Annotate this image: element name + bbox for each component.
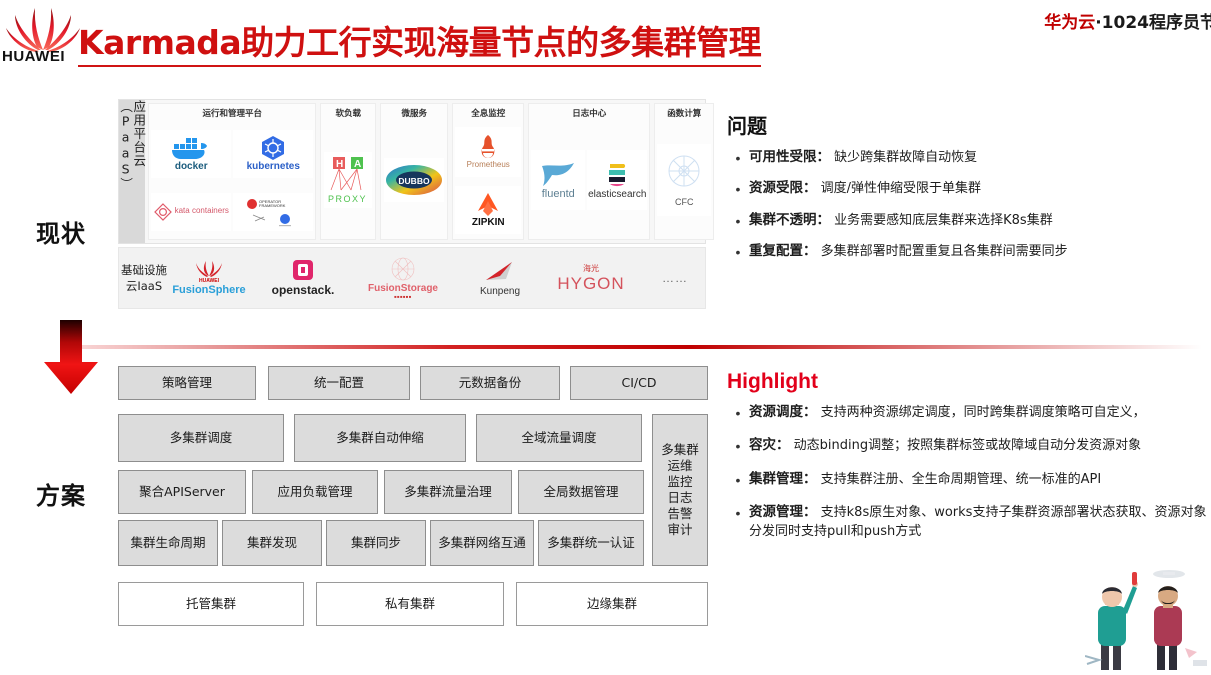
problem-term: 重复配置： [749, 243, 817, 259]
paas-column-title: 日志中心 [529, 104, 649, 121]
paas-side-label: 应用平台云（PaaS） [119, 100, 145, 243]
hygon-logo: 海光 HYGON [551, 263, 631, 294]
paas-platform-diagram: 应用平台云（PaaS） 运行和管理平台 [118, 99, 706, 244]
paas-column-title: 函数计算 [655, 104, 713, 121]
arch-box-global-traffic-scheduling[interactable]: 全域流量调度 [476, 414, 642, 462]
highlight-term: 资源管理： [749, 504, 817, 520]
list-item: • 重复配置： 多集群部署时配置重复且各集群间需要同步 [727, 242, 1207, 262]
problem-text: 资源受限： 调度/弹性伸缩受限于单集群 [749, 179, 1207, 199]
fluentd-label: fluentd [542, 188, 575, 200]
problem-text: 可用性受限： 缺少跨集群故障自动恢复 [749, 148, 1207, 168]
fusionstorage-sub: ■■■■■■ [394, 294, 412, 299]
list-item: • 可用性受限： 缺少跨集群故障自动恢复 [727, 148, 1207, 168]
elasticsearch-label: elasticsearch [588, 189, 646, 200]
highlight-desc: 支持k8s原生对象、works支持子集群资源部署状态获取、资源对象分发同时支持p… [749, 505, 1206, 539]
paas-side-label-text: 应用平台云（PaaS） [119, 100, 145, 243]
highlight-heading: Highlight [727, 370, 1207, 394]
kubernetes-label: kubernetes [247, 161, 300, 172]
event-badge-name: 1024程序员节 [1102, 13, 1211, 33]
arch-box-metadata-backup[interactable]: 元数据备份 [420, 366, 560, 400]
highlight-desc: 支持集群注册、全生命周期管理、统一标准的API [821, 472, 1102, 487]
arch-sidebar-line: 告警 [667, 506, 692, 522]
highlight-section: Highlight • 资源调度： 支持两种资源绑定调度，同时跨集群调度策略可自… [727, 370, 1207, 555]
kunpeng-label: Kunpeng [480, 286, 520, 297]
elasticsearch-logo: elasticsearch [587, 150, 647, 210]
list-item: • 集群不透明： 业务需要感知底层集群来选择K8s集群 [727, 211, 1207, 231]
slide-root: HUAWEI Karmada助力工行实现海量节点的多集群管理 华为云·1024程… [0, 0, 1211, 675]
problem-term: 可用性受限： [749, 149, 830, 165]
bullet-icon: • [727, 503, 749, 542]
down-arrow-icon [40, 318, 102, 396]
bullet-icon: • [727, 179, 749, 199]
cfc-logo: CFC [657, 144, 711, 216]
highlight-text: 资源管理： 支持k8s原生对象、works支持子集群资源部署状态获取、资源对象分… [749, 503, 1207, 542]
paas-columns: 运行和管理平台 docker [145, 100, 717, 243]
arch-box-edge-cluster[interactable]: 边缘集群 [516, 582, 708, 626]
paas-column-body: fluentd elasticsearch [529, 121, 649, 239]
arch-box-multicluster-traffic-governance[interactable]: 多集群流量治理 [384, 470, 512, 514]
bullet-icon: • [727, 242, 749, 262]
paas-column-logcenter: 日志中心 fluentd [528, 103, 650, 240]
arch-box-multicluster-autoscale[interactable]: 多集群自动伸缩 [294, 414, 466, 462]
list-item: • 集群管理： 支持集群注册、全生命周期管理、统一标准的API [727, 470, 1207, 490]
kata-containers-label: kata containers [175, 207, 229, 216]
paas-column-body: docker kubernetes [149, 121, 315, 239]
fusionsphere-label: FusionSphere [172, 284, 245, 296]
highlight-term: 集群管理： [749, 471, 817, 487]
highlight-text: 集群管理： 支持集群注册、全生命周期管理、统一标准的API [749, 470, 1207, 490]
huawei-wordmark: HUAWEI [2, 48, 65, 65]
problem-text: 重复配置： 多集群部署时配置重复且各集群间需要同步 [749, 242, 1207, 262]
zipkin-logo: ZIPKIN [455, 186, 521, 234]
arch-box-unified-config[interactable]: 统一配置 [268, 366, 410, 400]
bullet-icon: • [727, 436, 749, 456]
paas-column-title: 软负载 [321, 104, 375, 121]
list-item: • 容灾： 动态binding调整；按照集群标签或故障域自动分发资源对象 [727, 436, 1207, 456]
list-item: • 资源受限： 调度/弹性伸缩受限于单集群 [727, 179, 1207, 199]
openstack-logo: openstack. [263, 259, 343, 297]
arch-box-cicd[interactable]: CI/CD [570, 366, 708, 400]
paas-column-loadbalance: 软负载 H A PROXY [320, 103, 376, 240]
arch-box-managed-cluster[interactable]: 托管集群 [118, 582, 304, 626]
problem-desc: 调度/弹性伸缩受限于单集群 [821, 181, 981, 196]
problem-term: 资源受限： [749, 180, 817, 196]
paas-column-body: CFC [655, 121, 713, 239]
highlight-term: 资源调度： [749, 404, 817, 420]
arch-sidebar-line: 多集群 [661, 442, 699, 458]
problem-term: 集群不透明： [749, 212, 830, 228]
iaas-label: 基础设施云IaaS [119, 262, 169, 294]
arch-sidebar-line: 日志 [667, 490, 692, 506]
event-badge-brand: 华为云 [1044, 13, 1095, 33]
zipkin-label: ZIPKIN [472, 217, 505, 228]
arch-sidebar-line: 运维 [667, 458, 692, 474]
paas-column-body: Prometheus ZIPKIN [453, 121, 523, 239]
svg-text:H: H [336, 159, 343, 170]
problems-section: 问题 • 可用性受限： 缺少跨集群故障自动恢复 • 资源受限： 调度/弹性伸缩受… [727, 110, 1207, 273]
highlight-list: • 资源调度： 支持两种资源绑定调度，同时跨集群调度策略可自定义， • 容灾： … [727, 403, 1207, 542]
paas-column-body: DUBBO [381, 121, 447, 239]
prometheus-logo: Prometheus [455, 127, 521, 177]
iaas-ellipsis-label: …… [662, 271, 688, 285]
kunpeng-logo: Kunpeng [463, 260, 537, 297]
section-label-solution: 方案 [36, 476, 86, 511]
svg-text:PROXY: PROXY [328, 194, 367, 204]
problem-text: 集群不透明： 业务需要感知底层集群来选择K8s集群 [749, 211, 1207, 231]
openstack-label: openstack. [272, 283, 335, 297]
paas-column-microservice: 微服务 DUBBO [380, 103, 448, 240]
paas-column-title: 全息监控 [453, 104, 523, 121]
bullet-icon: • [727, 470, 749, 490]
svg-text:A: A [354, 159, 361, 170]
arch-box-policy-mgmt[interactable]: 策略管理 [118, 366, 256, 400]
iaas-ellipsis: …… [645, 271, 705, 285]
arch-box-ops-sidebar[interactable]: 多集群 运维 监控 日志 告警 审计 [652, 414, 708, 566]
two-person-illustration [1085, 560, 1211, 675]
arch-box-cluster-discovery[interactable]: 集群发现 [222, 520, 322, 566]
paas-column-title: 微服务 [381, 104, 447, 121]
page-title: Karmada助力工行实现海量节点的多集群管理 [78, 16, 761, 67]
hygon-label: HYGON [557, 274, 624, 294]
kata-containers-logo: kata containers [151, 193, 231, 231]
svg-text:FRAMEWORK: FRAMEWORK [259, 203, 286, 208]
arch-box-multicluster-auth[interactable]: 多集群统一认证 [538, 520, 644, 566]
event-badge: 华为云·1024程序员节 [1044, 8, 1211, 33]
iaas-infrastructure-strip: 基础设施云IaaS HUAWEI FusionSphere [118, 247, 706, 309]
bullet-icon: • [727, 211, 749, 231]
docker-label: docker [175, 161, 208, 172]
paas-column-title: 运行和管理平台 [149, 104, 315, 121]
highlight-text: 容灾： 动态binding调整；按照集群标签或故障域自动分发资源对象 [749, 436, 1207, 456]
arch-box-cluster-lifecycle[interactable]: 集群生命周期 [118, 520, 218, 566]
problem-desc: 多集群部署时配置重复且各集群间需要同步 [821, 244, 1068, 259]
svg-text:DUBBO: DUBBO [399, 176, 431, 186]
arch-box-global-data-mgmt[interactable]: 全局数据管理 [518, 470, 644, 514]
arch-sidebar-line: 审计 [667, 522, 692, 538]
section-divider-line [62, 345, 1202, 349]
dubbo-logo: DUBBO [384, 158, 444, 202]
problems-heading: 问题 [727, 110, 1207, 139]
list-item: • 资源调度： 支持两种资源绑定调度，同时跨集群调度策略可自定义， [727, 403, 1207, 423]
fusionstorage-logo: FusionStorage ■■■■■■ [357, 257, 449, 299]
arch-box-cluster-sync[interactable]: 集群同步 [326, 520, 426, 566]
kubernetes-logo: kubernetes [233, 130, 313, 178]
list-item: • 资源管理： 支持k8s原生对象、works支持子集群资源部署状态获取、资源对… [727, 503, 1207, 542]
hygon-sub: 海光 [583, 263, 599, 274]
arch-box-app-workload-mgmt[interactable]: 应用负载管理 [252, 470, 378, 514]
operator-framework-logo: OPERATOR FRAMEWORK [233, 193, 313, 231]
arch-box-private-cluster[interactable]: 私有集群 [316, 582, 504, 626]
haproxy-logo: H A PROXY [324, 152, 372, 208]
arch-box-multicluster-network[interactable]: 多集群网络互通 [430, 520, 534, 566]
architecture-diagram: 策略管理 统一配置 元数据备份 CI/CD 多集群调度 多集群自动伸缩 全域流量… [118, 366, 708, 631]
fusionstorage-label: FusionStorage [368, 283, 438, 294]
highlight-term: 容灾： [749, 437, 790, 453]
arch-box-aggregated-apiserver[interactable]: 聚合APIServer [118, 470, 246, 514]
docker-logo: docker [151, 130, 231, 178]
prometheus-label: Prometheus [467, 160, 510, 169]
cfc-label: CFC [675, 197, 694, 207]
arch-sidebar-line: 监控 [667, 474, 692, 490]
arch-box-multicluster-scheduling[interactable]: 多集群调度 [118, 414, 284, 462]
bullet-icon: • [727, 148, 749, 168]
section-label-current: 现状 [36, 214, 86, 249]
problems-list: • 可用性受限： 缺少跨集群故障自动恢复 • 资源受限： 调度/弹性伸缩受限于单… [727, 148, 1207, 262]
paas-column-body: H A PROXY [321, 121, 375, 239]
highlight-desc: 动态binding调整；按照集群标签或故障域自动分发资源对象 [794, 438, 1141, 453]
problem-desc: 缺少跨集群故障自动恢复 [834, 150, 977, 165]
problem-desc: 业务需要感知底层集群来选择K8s集群 [834, 213, 1053, 228]
fluentd-logo: fluentd [531, 150, 585, 210]
paas-column-function: 函数计算 CFC [654, 103, 714, 240]
highlight-text: 资源调度： 支持两种资源绑定调度，同时跨集群调度策略可自定义， [749, 403, 1207, 423]
paas-column-runtime: 运行和管理平台 docker [148, 103, 316, 240]
paas-column-monitoring: 全息监控 Prometheus [452, 103, 524, 240]
fusionsphere-logo: HUAWEI FusionSphere [169, 260, 249, 296]
bullet-icon: • [727, 403, 749, 423]
highlight-desc: 支持两种资源绑定调度，同时跨集群调度策略可自定义， [821, 405, 1146, 420]
iaas-logo-list: HUAWEI FusionSphere openstack. [169, 257, 705, 299]
